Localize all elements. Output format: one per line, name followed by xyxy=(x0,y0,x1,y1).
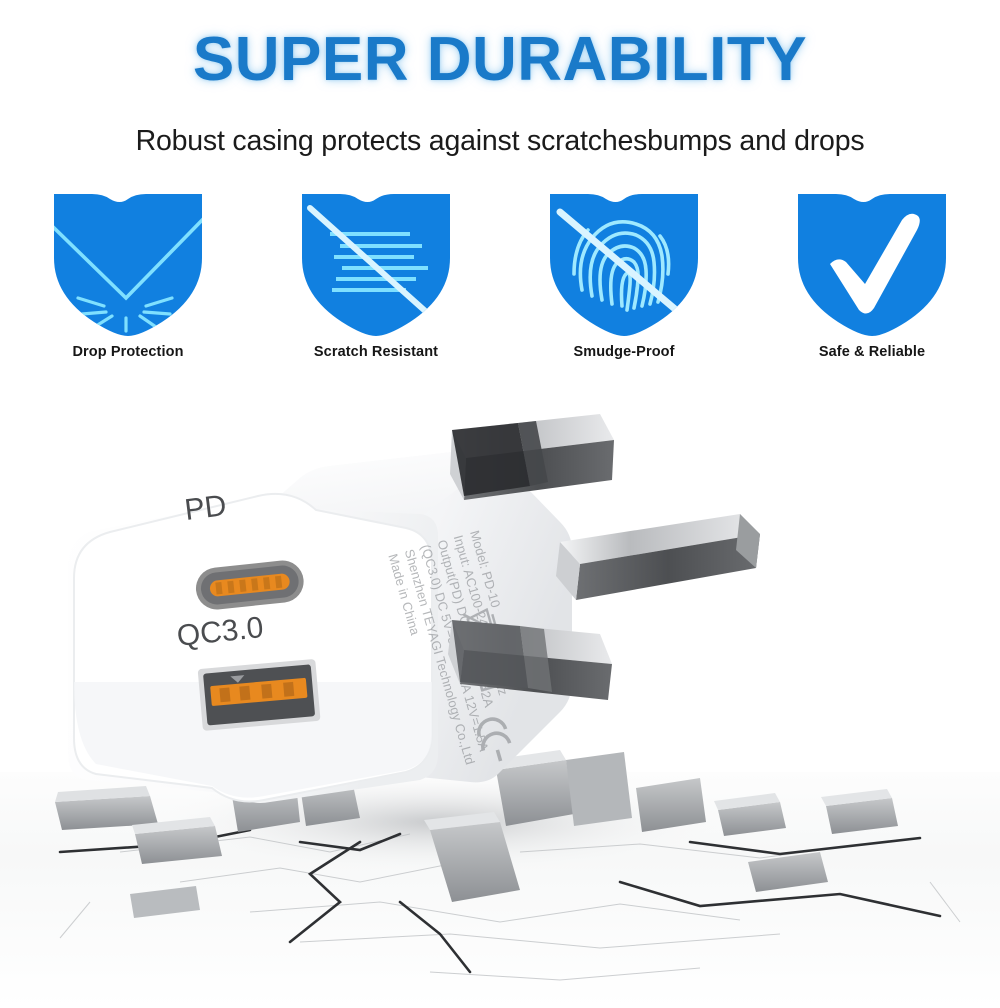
usb-a-port-icon xyxy=(198,659,321,731)
badge-scratch-resistant: Scratch Resistant xyxy=(270,186,482,381)
scratch-lines-icon xyxy=(290,186,462,338)
badge-label: Drop Protection xyxy=(72,344,183,360)
live-pin xyxy=(450,414,614,500)
fingerprint-icon xyxy=(538,186,710,338)
drop-impact-icon xyxy=(42,186,214,338)
cracked-floor xyxy=(0,750,1000,1008)
badge-drop-protection: Drop Protection xyxy=(22,186,234,381)
pd-port-label: PD xyxy=(183,489,228,527)
product-feature-banner: SUPER DURABILITY Robust casing protects … xyxy=(0,0,1000,1008)
checkmark-icon xyxy=(786,186,958,338)
charger-on-cracked-floor: PD QC3.0 xyxy=(0,382,1000,1008)
badge-label: Smudge-Proof xyxy=(573,344,674,360)
badge-label: Scratch Resistant xyxy=(314,344,438,360)
page-title: SUPER DURABILITY xyxy=(0,27,1000,92)
badge-label: Safe & Reliable xyxy=(819,344,925,360)
charger-body: PD QC3.0 xyxy=(68,414,760,803)
feature-badge-row: Drop Protection xyxy=(0,186,1000,381)
product-scene: PD QC3.0 xyxy=(0,382,1000,1008)
badge-smudge-proof: Smudge-Proof xyxy=(518,186,730,381)
badge-safe-reliable: Safe & Reliable xyxy=(766,186,978,381)
page-subtitle: Robust casing protects against scratches… xyxy=(0,125,1000,158)
earth-pin xyxy=(556,514,760,600)
